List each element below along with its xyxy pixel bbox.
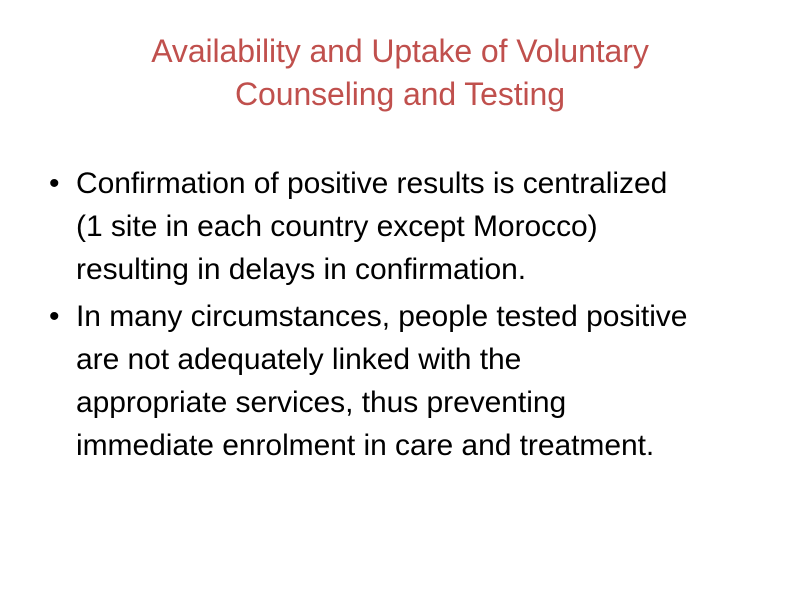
bullet-text: Confirmation of positive results is cent… bbox=[76, 162, 770, 291]
slide-body-content: • Confirmation of positive results is ce… bbox=[40, 162, 770, 471]
slide-title: Availability and Uptake of Voluntary Cou… bbox=[60, 30, 740, 116]
presentation-slide: Availability and Uptake of Voluntary Cou… bbox=[0, 0, 800, 600]
bullet-point-icon: • bbox=[40, 295, 76, 338]
bullet-text: In many circumstances, people tested pos… bbox=[76, 295, 770, 467]
list-item: • In many circumstances, people tested p… bbox=[40, 295, 770, 467]
bullet-point-icon: • bbox=[40, 162, 76, 205]
list-item: • Confirmation of positive results is ce… bbox=[40, 162, 770, 291]
